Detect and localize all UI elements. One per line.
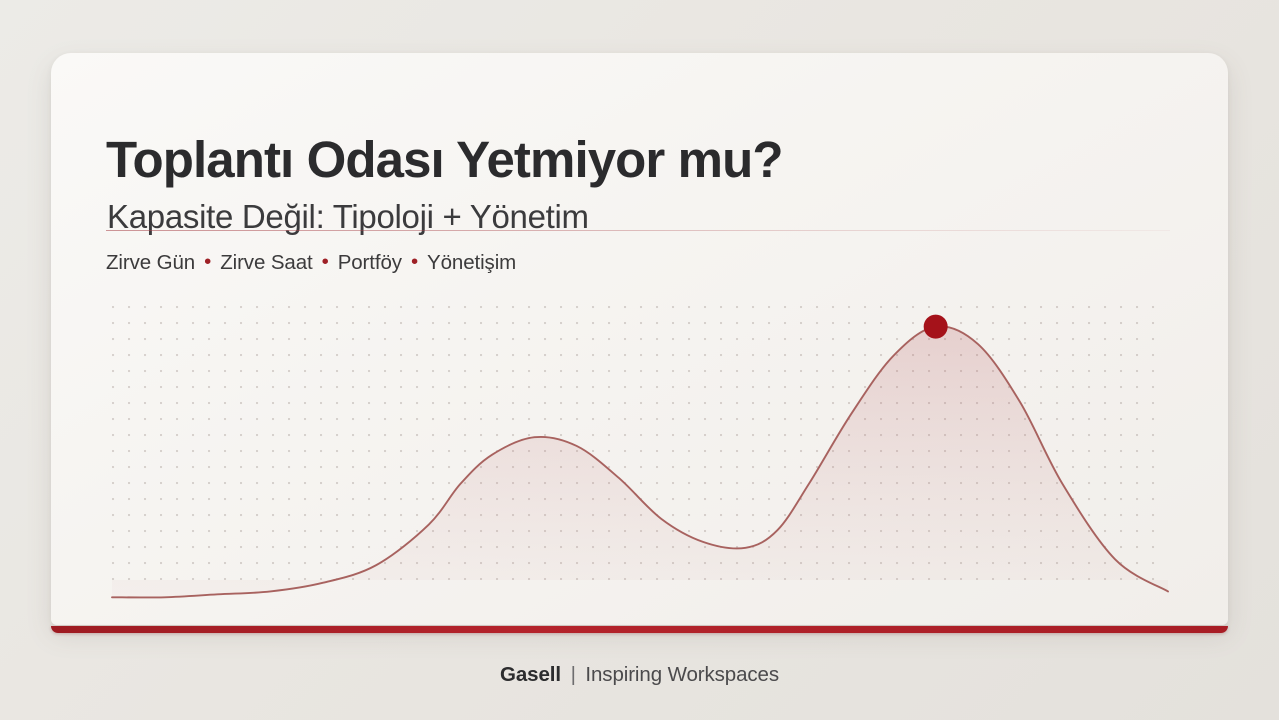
tagline-separator-icon: • xyxy=(204,252,211,273)
footer-brandline: Gasell | Inspiring Workspaces xyxy=(0,663,1279,687)
chart-area-fill xyxy=(112,326,1168,597)
tagline-separator-icon: • xyxy=(322,252,329,273)
slide-card: Toplantı Odası Yetmiyor mu? Kapasite Değ… xyxy=(51,53,1228,625)
tagline-separator-icon: • xyxy=(411,252,418,273)
title-divider xyxy=(106,230,1170,231)
tagline-list: Zirve Gün • Zirve Saat • Portföy • Yönet… xyxy=(106,251,516,275)
occupancy-chart xyxy=(112,306,1168,580)
tagline-item-4: Yönetişim xyxy=(427,251,516,275)
tagline-item-1: Zirve Gün xyxy=(106,251,195,275)
tagline-item-2: Zirve Saat xyxy=(220,251,312,275)
card-accent-bar xyxy=(51,626,1228,633)
page-title: Toplantı Odası Yetmiyor mu? xyxy=(106,132,783,187)
chart-peak-marker[interactable] xyxy=(924,315,948,339)
footer-tagline: Inspiring Workspaces xyxy=(585,663,779,686)
tagline-item-3: Portföy xyxy=(338,251,402,275)
chart-curve-svg xyxy=(112,306,1168,580)
footer-brand: Gasell xyxy=(500,663,561,686)
footer-separator: | xyxy=(571,663,576,686)
